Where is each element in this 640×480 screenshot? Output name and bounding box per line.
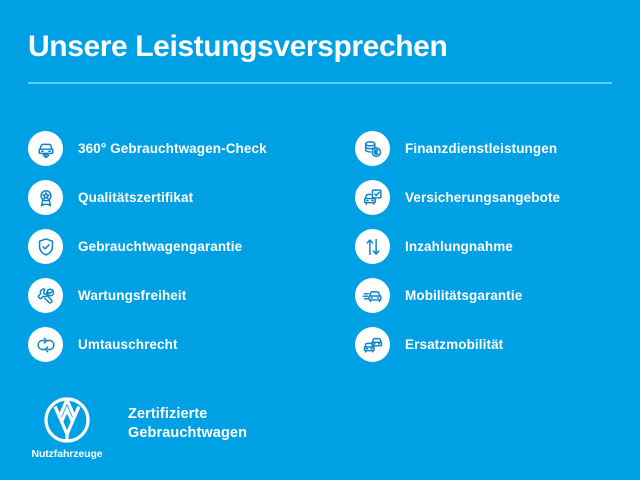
promise-columns: 360° Gebrauchtwagen-Check Qualitätszerti… bbox=[0, 124, 640, 364]
promise-label: Finanzdienstleistungen bbox=[405, 141, 557, 156]
title-divider bbox=[28, 82, 612, 84]
award-rosette-icon bbox=[28, 180, 63, 215]
exchange-arrows-icon bbox=[28, 327, 63, 362]
promise-item-mobilitaetsgarantie[interactable]: Mobilitätsgarantie bbox=[355, 271, 640, 320]
promise-item-umtauschrecht[interactable]: Umtauschrecht bbox=[28, 320, 328, 369]
two-cars-icon bbox=[355, 327, 390, 362]
header: Unsere Leistungsversprechen bbox=[28, 28, 612, 84]
wrench-check-icon bbox=[28, 278, 63, 313]
promise-label: Ersatzmobilität bbox=[405, 337, 503, 352]
brand-subtitle: Nutzfahrzeuge bbox=[30, 448, 104, 460]
promise-label: Wartungsfreiheit bbox=[78, 288, 186, 303]
arrows-up-down-icon bbox=[355, 229, 390, 264]
promise-label: Gebrauchtwagengarantie bbox=[78, 239, 242, 254]
promise-item-qualitaetszertifikat[interactable]: Qualitätszertifikat bbox=[28, 173, 328, 222]
promise-item-gebrauchtwagengarantie[interactable]: Gebrauchtwagengarantie bbox=[28, 222, 328, 271]
coins-euro-icon bbox=[355, 131, 390, 166]
brand-mark: Nutzfahrzeuge bbox=[30, 396, 104, 460]
promise-item-gebrauchtwagen-check[interactable]: 360° Gebrauchtwagen-Check bbox=[28, 124, 328, 173]
page-title: Unsere Leistungsversprechen bbox=[28, 28, 612, 66]
promise-item-ersatzmobilitaet[interactable]: Ersatzmobilität bbox=[355, 320, 640, 369]
brand-claim-line1: Zertifizierte bbox=[128, 405, 247, 424]
promise-label: Inzahlungnahme bbox=[405, 239, 513, 254]
car-document-check-icon bbox=[355, 180, 390, 215]
promise-item-versicherungsangebote[interactable]: Versicherungsangebote bbox=[355, 173, 640, 222]
shield-check-icon bbox=[28, 229, 63, 264]
promise-item-finanzdienstleistungen[interactable]: Finanzdienstleistungen bbox=[355, 124, 640, 173]
slide-root: Unsere Leistungsversprechen 360° Gebrauc… bbox=[0, 0, 640, 480]
promise-label: Qualitätszertifikat bbox=[78, 190, 193, 205]
brand-claim-line2: Gebrauchtwagen bbox=[128, 424, 247, 443]
promise-label: 360° Gebrauchtwagen-Check bbox=[78, 141, 267, 156]
brand-block: Nutzfahrzeuge Zertifizierte Gebrauchtwag… bbox=[30, 396, 247, 460]
promise-label: Versicherungsangebote bbox=[405, 190, 560, 205]
car-front-check-icon bbox=[28, 131, 63, 166]
promise-label: Umtauschrecht bbox=[78, 337, 178, 352]
brand-claim: Zertifizierte Gebrauchtwagen bbox=[128, 405, 247, 443]
promise-column-left: 360° Gebrauchtwagen-Check Qualitätszerti… bbox=[28, 124, 328, 369]
promise-column-right: Finanzdienstleistungen Versicherungsange… bbox=[355, 124, 640, 369]
promise-label: Mobilitätsgarantie bbox=[405, 288, 522, 303]
promise-item-inzahlungnahme[interactable]: Inzahlungnahme bbox=[355, 222, 640, 271]
car-speed-icon bbox=[355, 278, 390, 313]
promise-item-wartungsfreiheit[interactable]: Wartungsfreiheit bbox=[28, 271, 328, 320]
vw-logo bbox=[43, 396, 91, 444]
